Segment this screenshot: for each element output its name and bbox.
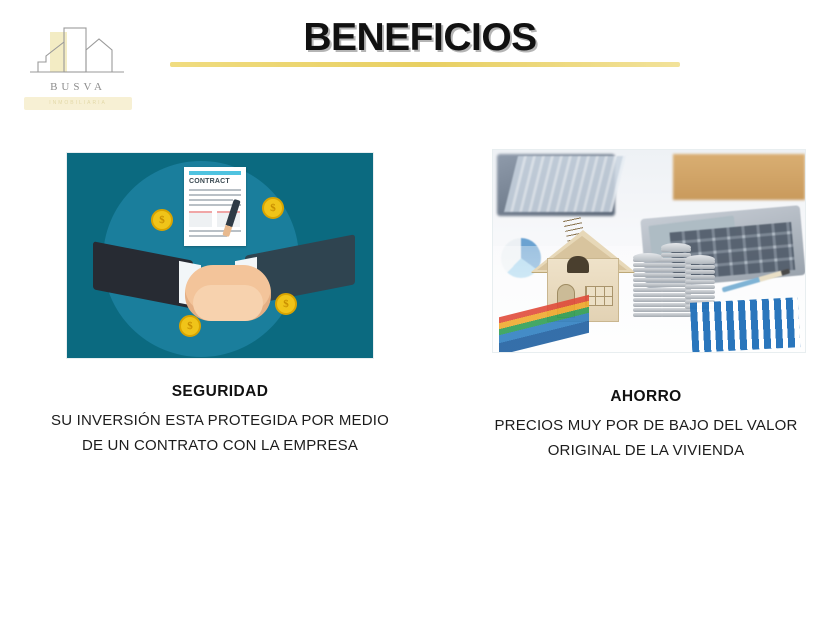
document-line [189,235,227,237]
document-line [189,194,241,196]
house-attic-window [567,256,589,273]
card-title: SEGURIDAD [40,383,400,401]
contract-label: CONTRACT [189,178,241,185]
logo-wordmark: BUSVA [24,81,132,93]
card-body: PRECIOS MUY POR DE BAJO DEL VALOR ORIGIN… [466,413,826,463]
dollar-coin-icon: $ [151,209,173,231]
card-body: SU INVERSIÓN ESTA PROTEGIDA POR MEDIO DE… [40,408,400,458]
document-header-bar [189,171,241,175]
document-line [189,189,241,191]
card-caption: SEGURIDAD SU INVERSIÓN ESTA PROTEGIDA PO… [40,383,400,458]
document-line [189,199,233,201]
page-title: BENEFICIOS [0,16,840,60]
handshake-contract-illustration: CONTRACT $ $ $ $ [66,152,374,359]
dollar-coin-icon: $ [179,315,201,337]
model-house-coins-calculator-photo [492,149,806,353]
card-caption: AHORRO PRECIOS MUY POR DE BAJO DEL VALOR… [466,388,826,463]
coin-top [633,253,663,262]
keyboard [504,156,626,212]
document-block [189,211,212,227]
coin-top [685,255,715,264]
handshake-fingers [193,285,263,321]
card-title: AHORRO [466,388,826,406]
title-underline-rule [170,62,680,67]
dollar-coin-icon: $ [275,293,297,315]
coin-stack [633,258,663,318]
coin-top [661,243,691,252]
bar-chart-on-paper [690,297,800,353]
logo-tagline: INMOBILIARIA [24,97,132,110]
document-line [189,230,241,232]
wood-panel [673,154,805,200]
dollar-coin-icon: $ [262,197,284,219]
house-window [585,286,613,306]
